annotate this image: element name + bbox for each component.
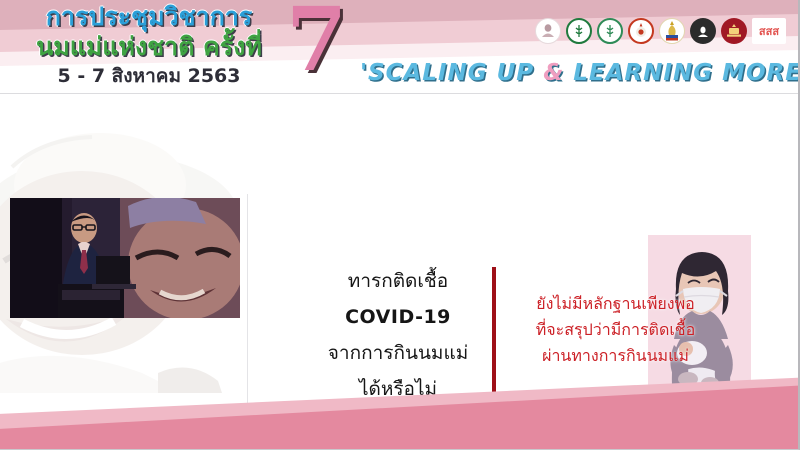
conference-tagline: 'SCALING UP & LEARNING MORE' xyxy=(360,60,800,86)
question-line-1: ทารกติดเชื้อ xyxy=(318,263,478,299)
presenter-podium-photo xyxy=(10,198,240,318)
conference-date: 5 - 7 สิงหาคม 2563 xyxy=(14,63,284,89)
answer-text-block: ยังไม่มีหลักฐานเพียงพอ ที่จะสรุปว่ามีการ… xyxy=(498,291,733,369)
royal-emblem-logo xyxy=(535,18,561,44)
tagline-suffix: LEARNING MORE' xyxy=(564,60,800,86)
medical-council-logo xyxy=(721,18,747,44)
conference-title-block: การประชุมวิชาการ นมแม่แห่งชาติ ครั้งที่ … xyxy=(14,2,284,89)
question-text-block: ทารกติดเชื้อ COVID-19 จากการกินนมแม่ ได้… xyxy=(318,263,478,407)
ministry-of-public-health-logo xyxy=(566,18,592,44)
conference-title-line1: การประชุมวิชาการ xyxy=(14,2,284,32)
conference-title-line2: นมแม่แห่งชาติ ครั้งที่ xyxy=(14,32,284,62)
presentation-slide: การประชุมวิชาการ นมแม่แห่งชาติ ครั้งที่ … xyxy=(0,0,800,450)
answer-line-3: ผ่านทางการกินนมแม่ xyxy=(498,343,733,369)
question-line-2: COVID-19 xyxy=(318,299,478,335)
answer-line-2: ที่จะสรุปว่ามีการติดเชื้อ xyxy=(498,317,733,343)
nursing-council-logo xyxy=(690,18,716,44)
tagline-ampersand: & xyxy=(543,60,564,86)
thai-health-sso-label: สสส xyxy=(759,22,779,40)
question-line-3: จากการกินนมแม่ xyxy=(318,335,478,371)
thai-breastfeeding-center-logo xyxy=(597,18,623,44)
sponsor-logos-row: สสส xyxy=(535,18,786,44)
tagline-prefix: 'SCALING UP xyxy=(360,60,543,86)
answer-line-1: ยังไม่มีหลักฐานเพียงพอ xyxy=(498,291,733,317)
header-divider-rule xyxy=(0,93,800,94)
footer-band-flat xyxy=(0,438,800,450)
thai-health-sso-logo: สสส xyxy=(752,18,786,44)
thai-pediatric-society-logo xyxy=(628,18,654,44)
royal-crest-logo xyxy=(659,18,685,44)
slide-header-banner: การประชุมวิชาการ นมแม่แห่งชาติ ครั้งที่ … xyxy=(0,0,800,95)
edition-number-graphic: 7 xyxy=(286,0,347,84)
